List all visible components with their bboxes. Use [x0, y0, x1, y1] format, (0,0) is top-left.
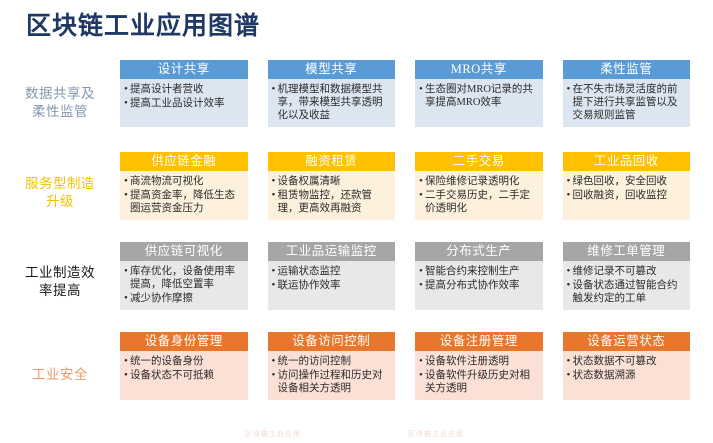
watermark-right: 区块链工业应用: [408, 429, 464, 439]
row-label-line: 工业制造效: [6, 264, 114, 282]
card-body: •在不失市场灵活度的前提下进行共享监管以及交易规则监管: [563, 79, 691, 127]
slide-canvas: 区块链工业应用图谱 数据共享及柔性监管设计共享•提高设计者营收•提高工业品设计效…: [0, 0, 713, 443]
card-body: •设备权属清晰•租赁物监控，还款管理，更高效再融资: [268, 171, 396, 220]
bullet-item: •智能合约来控制生产: [419, 265, 538, 278]
bullet-item: •维修记录不可篡改: [567, 265, 686, 278]
capability-card[interactable]: 融资租赁•设备权属清晰•租赁物监控，还款管理，更高效再融资: [268, 152, 396, 220]
row-label-line: 率提高: [6, 282, 114, 300]
capability-card[interactable]: 设备注册管理•设备软件注册透明•设备软件升级历史对相关方透明: [415, 332, 543, 400]
row-label-line: 柔性监管: [6, 103, 114, 121]
bullet-item: •回收融资，回收监控: [567, 189, 686, 202]
capability-card[interactable]: 维修工单管理•维修记录不可篡改•设备状态通过智能合约触发约定的工单: [563, 242, 691, 310]
bullet-text: 联运协作效率: [278, 279, 391, 292]
capability-card[interactable]: 供应链金融•商流物流可视化•提高资金率，降低生态圈运营资金压力: [120, 152, 248, 220]
matrix-row: 服务型制造升级供应链金融•商流物流可视化•提高资金率，降低生态圈运营资金压力融资…: [0, 152, 713, 234]
bullet-item: •设备权属清晰: [272, 175, 391, 188]
title-bar: 区块链工业应用图谱: [26, 10, 646, 44]
bullet-item: •保险维修记录透明化: [419, 175, 538, 188]
card-header: 工业品运输监控: [268, 242, 396, 261]
bullet-item: •机理模型和数据模型共享，带来模型共享透明化以及收益: [272, 83, 391, 122]
capability-card[interactable]: 模型共享•机理模型和数据模型共享，带来模型共享透明化以及收益: [268, 60, 396, 127]
capability-card[interactable]: 设备访问控制•统一的访问控制•访问操作过程和历史对设备相关方透明: [268, 332, 396, 400]
capability-card[interactable]: 设备身份管理•统一的设备身份•设备状态不可抵赖: [120, 332, 248, 400]
bullet-text: 在不失市场灵活度的前提下进行共享监管以及交易规则监管: [573, 83, 686, 122]
row-label: 工业制造效率提高: [0, 264, 120, 300]
card-header: 融资租赁: [268, 152, 396, 171]
bullet-text: 生态圈对MRO记录的共享提高MRO效率: [425, 83, 538, 109]
bullet-text: 提高工业品设计效率: [130, 97, 243, 110]
card-body: •统一的访问控制•访问操作过程和历史对设备相关方透明: [268, 351, 396, 400]
card-header: 模型共享: [268, 60, 396, 79]
bullet-item: •设备软件升级历史对相关方透明: [419, 369, 538, 395]
bullet-item: •二手交易历史，二手定价透明化: [419, 189, 538, 215]
card-body: •库存优化，设备使用率提高，降低空置率•减少协作摩擦: [120, 261, 248, 310]
bullet-item: •设备软件注册透明: [419, 355, 538, 368]
capability-card[interactable]: 二手交易•保险维修记录透明化•二手交易历史，二手定价透明化: [415, 152, 543, 220]
card-body: •维修记录不可篡改•设备状态通过智能合约触发约定的工单: [563, 261, 691, 310]
bullet-item: •减少协作摩擦: [124, 292, 243, 305]
card-group: 供应链可视化•库存优化，设备使用率提高，降低空置率•减少协作摩擦工业品运输监控•…: [120, 242, 713, 310]
capability-card[interactable]: 供应链可视化•库存优化，设备使用率提高，降低空置率•减少协作摩擦: [120, 242, 248, 310]
bullet-item: •在不失市场灵活度的前提下进行共享监管以及交易规则监管: [567, 83, 686, 122]
card-group: 设备身份管理•统一的设备身份•设备状态不可抵赖设备访问控制•统一的访问控制•访问…: [120, 332, 713, 400]
bullet-text: 商流物流可视化: [130, 175, 243, 188]
row-label-line: 工业安全: [6, 366, 114, 384]
bullet-item: •库存优化，设备使用率提高，降低空置率: [124, 265, 243, 291]
bullet-item: •商流物流可视化: [124, 175, 243, 188]
card-header: 供应链可视化: [120, 242, 248, 261]
card-body: •统一的设备身份•设备状态不可抵赖: [120, 351, 248, 400]
row-label: 服务型制造升级: [0, 175, 120, 211]
bullet-text: 二手交易历史，二手定价透明化: [425, 189, 538, 215]
bullet-text: 库存优化，设备使用率提高，降低空置率: [130, 265, 243, 291]
bullet-text: 提高设计者营收: [130, 83, 243, 96]
bullet-text: 回收融资，回收监控: [573, 189, 686, 202]
bullet-text: 设备状态通过智能合约触发约定的工单: [573, 279, 686, 305]
bullet-text: 智能合约来控制生产: [425, 265, 538, 278]
card-body: •运输状态监控•联运协作效率: [268, 261, 396, 310]
card-header: 柔性监管: [563, 60, 691, 79]
row-label: 数据共享及柔性监管: [0, 85, 120, 121]
bullet-text: 状态数据不可篡改: [573, 355, 686, 368]
bullet-item: •生态圈对MRO记录的共享提高MRO效率: [419, 83, 538, 109]
card-body: •机理模型和数据模型共享，带来模型共享透明化以及收益: [268, 79, 396, 127]
card-header: 维修工单管理: [563, 242, 691, 261]
bullet-item: •租赁物监控，还款管理，更高效再融资: [272, 189, 391, 215]
card-body: •状态数据不可篡改•状态数据溯源: [563, 351, 691, 400]
bullet-item: •访问操作过程和历史对设备相关方透明: [272, 369, 391, 395]
matrix-row: 工业安全设备身份管理•统一的设备身份•设备状态不可抵赖设备访问控制•统一的访问控…: [0, 332, 713, 418]
card-header: 分布式生产: [415, 242, 543, 261]
bullet-item: •绿色回收，安全回收: [567, 175, 686, 188]
card-body: •商流物流可视化•提高资金率，降低生态圈运营资金压力: [120, 171, 248, 220]
bullet-text: 统一的设备身份: [130, 355, 243, 368]
bullet-text: 维修记录不可篡改: [573, 265, 686, 278]
row-label-line: 升级: [6, 193, 114, 211]
card-body: •绿色回收，安全回收•回收融资，回收监控: [563, 171, 691, 220]
card-body: •设备软件注册透明•设备软件升级历史对相关方透明: [415, 351, 543, 400]
card-header: 设备身份管理: [120, 332, 248, 351]
bullet-text: 机理模型和数据模型共享，带来模型共享透明化以及收益: [278, 83, 391, 122]
bullet-text: 提高分布式协作效率: [425, 279, 538, 292]
bullet-item: •提高资金率，降低生态圈运营资金压力: [124, 189, 243, 215]
bullet-text: 统一的访问控制: [278, 355, 391, 368]
card-header: 设备注册管理: [415, 332, 543, 351]
bullet-text: 绿色回收，安全回收: [573, 175, 686, 188]
bullet-item: •设备状态不可抵赖: [124, 369, 243, 382]
bullet-item: •提高设计者营收: [124, 83, 243, 96]
card-header: MRO共享: [415, 60, 543, 79]
row-label-line: 服务型制造: [6, 175, 114, 193]
bullet-item: •联运协作效率: [272, 279, 391, 292]
capability-card[interactable]: 设备运营状态•状态数据不可篡改•状态数据溯源: [563, 332, 691, 400]
card-header: 二手交易: [415, 152, 543, 171]
bullet-text: 状态数据溯源: [573, 369, 686, 382]
capability-card[interactable]: 工业品回收•绿色回收，安全回收•回收融资，回收监控: [563, 152, 691, 220]
watermark-left: 区块链工业应用: [245, 429, 301, 439]
bullet-text: 租赁物监控，还款管理，更高效再融资: [278, 189, 391, 215]
bullet-item: •统一的访问控制: [272, 355, 391, 368]
card-header: 供应链金融: [120, 152, 248, 171]
capability-card[interactable]: 分布式生产•智能合约来控制生产•提高分布式协作效率: [415, 242, 543, 310]
matrix-row: 工业制造效率提高供应链可视化•库存优化，设备使用率提高，降低空置率•减少协作摩擦…: [0, 242, 713, 322]
card-body: •智能合约来控制生产•提高分布式协作效率: [415, 261, 543, 310]
bullet-item: •状态数据不可篡改: [567, 355, 686, 368]
card-group: 设计共享•提高设计者营收•提高工业品设计效率模型共享•机理模型和数据模型共享，带…: [120, 60, 713, 127]
capability-card[interactable]: MRO共享•生态圈对MRO记录的共享提高MRO效率: [415, 60, 543, 127]
bullet-item: •提高分布式协作效率: [419, 279, 538, 292]
capability-card[interactable]: 工业品运输监控•运输状态监控•联运协作效率: [268, 242, 396, 310]
card-header: 工业品回收: [563, 152, 691, 171]
bullet-text: 设备软件升级历史对相关方透明: [425, 369, 538, 395]
card-body: •保险维修记录透明化•二手交易历史，二手定价透明化: [415, 171, 543, 220]
card-header: 设备运营状态: [563, 332, 691, 351]
card-group: 供应链金融•商流物流可视化•提高资金率，降低生态圈运营资金压力融资租赁•设备权属…: [120, 152, 713, 220]
bullet-item: •统一的设备身份: [124, 355, 243, 368]
matrix-row: 数据共享及柔性监管设计共享•提高设计者营收•提高工业品设计效率模型共享•机理模型…: [0, 60, 713, 146]
bullet-text: 运输状态监控: [278, 265, 391, 278]
bullet-text: 减少协作摩擦: [130, 292, 243, 305]
bullet-text: 设备软件注册透明: [425, 355, 538, 368]
bullet-text: 保险维修记录透明化: [425, 175, 538, 188]
row-label-line: 数据共享及: [6, 85, 114, 103]
card-body: •提高设计者营收•提高工业品设计效率: [120, 79, 248, 127]
card-header: 设计共享: [120, 60, 248, 79]
card-body: •生态圈对MRO记录的共享提高MRO效率: [415, 79, 543, 127]
bullet-text: 设备权属清晰: [278, 175, 391, 188]
bullet-item: •设备状态通过智能合约触发约定的工单: [567, 279, 686, 305]
page-title: 区块链工业应用图谱: [26, 10, 646, 42]
bullet-item: •运输状态监控: [272, 265, 391, 278]
row-label: 工业安全: [0, 366, 120, 384]
capability-card[interactable]: 柔性监管•在不失市场灵活度的前提下进行共享监管以及交易规则监管: [563, 60, 691, 127]
matrix-grid: 数据共享及柔性监管设计共享•提高设计者营收•提高工业品设计效率模型共享•机理模型…: [0, 58, 713, 426]
capability-card[interactable]: 设计共享•提高设计者营收•提高工业品设计效率: [120, 60, 248, 127]
bullet-text: 提高资金率，降低生态圈运营资金压力: [130, 189, 243, 215]
card-header: 设备访问控制: [268, 332, 396, 351]
bullet-text: 设备状态不可抵赖: [130, 369, 243, 382]
bullet-item: •状态数据溯源: [567, 369, 686, 382]
bullet-item: •提高工业品设计效率: [124, 97, 243, 110]
bullet-text: 访问操作过程和历史对设备相关方透明: [278, 369, 391, 395]
